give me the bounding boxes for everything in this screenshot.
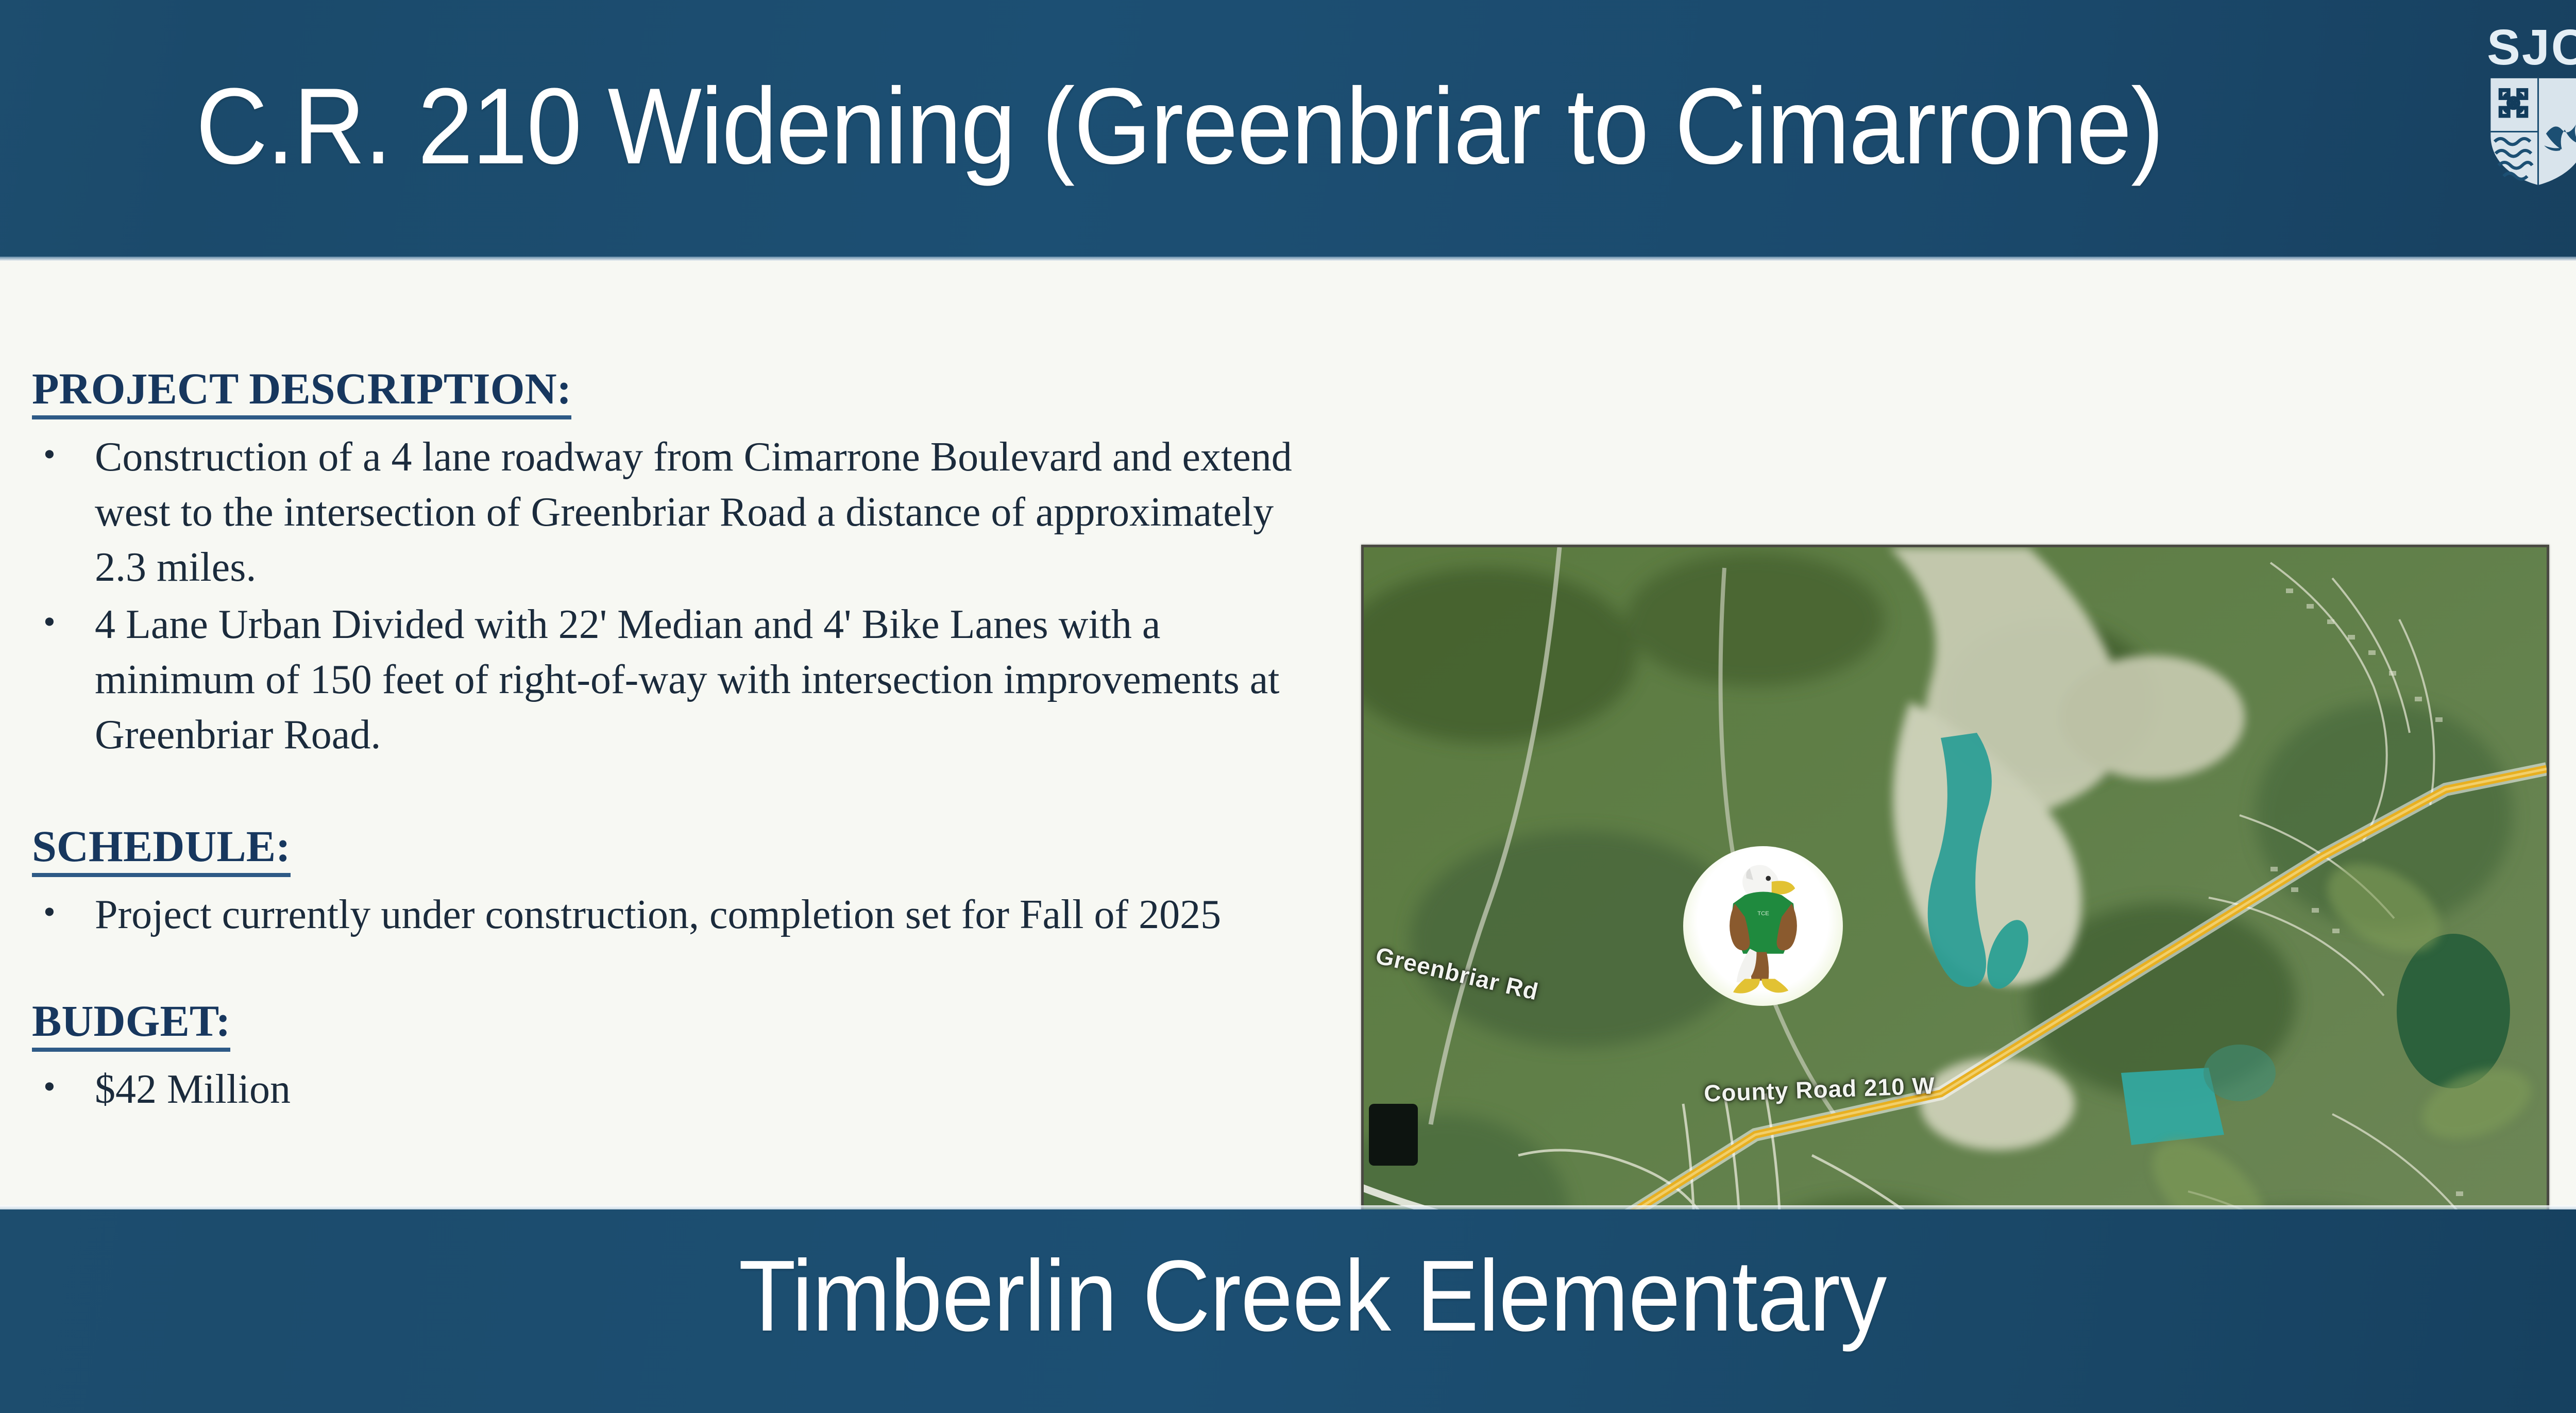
list-item: Project currently under construction, co… [32, 887, 1310, 943]
slide-body: PROJECT DESCRIPTION: Construction of a 4… [0, 261, 2576, 1209]
footer-title: Timberlin Creek Elementary [92, 1229, 2533, 1363]
list-item: $42 Million [32, 1062, 1310, 1117]
eagle-mascot-icon: TCE [1713, 862, 1814, 996]
list-item: Construction of a 4 lane roadway from Ci… [32, 430, 1310, 595]
section-heading-project-description: PROJECT DESCRIPTION: [32, 364, 571, 419]
list-item: 4 Lane Urban Divided with 22' Median and… [32, 597, 1310, 763]
schedule-list: Project currently under construction, co… [32, 887, 1310, 943]
spacer [32, 765, 1310, 821]
svg-text:TCE: TCE [1757, 911, 1769, 917]
section-heading-budget: BUDGET: [32, 996, 230, 1052]
project-description-list: Construction of a 4 lane roadway from Ci… [32, 430, 1310, 763]
slide-header-bar: C.R. 210 Widening (Greenbriar to Cimarro… [0, 0, 2576, 261]
sjc-logo: SJC [2484, 23, 2576, 193]
sjc-shield-icon [2488, 76, 2576, 187]
section-heading-schedule: SCHEDULE: [32, 821, 291, 877]
page-title: C.R. 210 Widening (Greenbriar to Cimarro… [196, 52, 2201, 201]
project-details-column: PROJECT DESCRIPTION: Construction of a 4… [32, 364, 1310, 1119]
presentation-slide: C.R. 210 Widening (Greenbriar to Cimarro… [0, 0, 2576, 1413]
spacer [32, 945, 1310, 996]
school-location-marker[interactable]: TCE [1683, 846, 1843, 1016]
sjc-logo-letters: SJC [2484, 23, 2576, 72]
budget-list: $42 Million [32, 1062, 1310, 1117]
slide-footer-bar: Timberlin Creek Elementary [0, 1209, 2576, 1413]
